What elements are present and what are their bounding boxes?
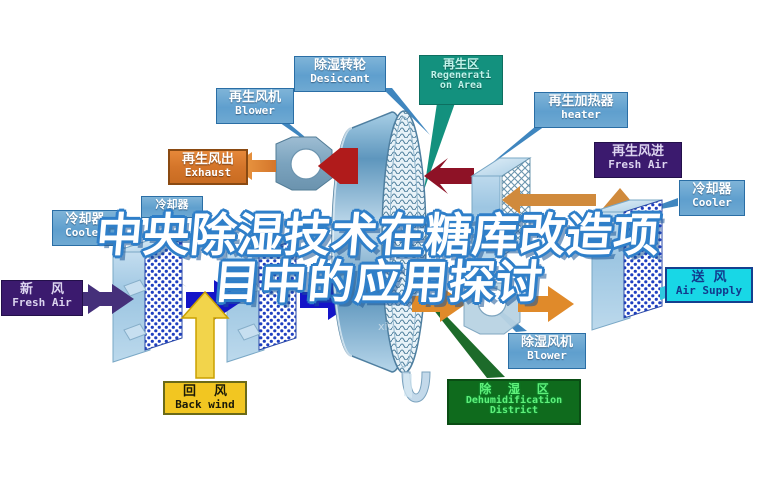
label-regeneration-blower: 再生风机Blower [216, 88, 294, 124]
label-cn: 再生区 [420, 56, 502, 71]
label-exhaust: 再生风出Exhaust [168, 149, 248, 185]
label-desiccant-rotor: 除湿转轮Desiccant [294, 56, 386, 92]
svg-text:xin: xin [378, 320, 395, 333]
arrow-blower-to-cooler [518, 286, 574, 322]
label-cn: 冷却器 [680, 181, 744, 197]
label-en: Desiccant [295, 73, 385, 87]
label-en: Cooler [680, 197, 744, 211]
label-en: Fresh Air [595, 159, 681, 173]
label-cn: 回 风 [165, 383, 245, 399]
label-cn: 冷却器 [53, 211, 117, 227]
label-en: Air Supply [667, 285, 751, 299]
label-regeneration-heater: 再生加热器heater [534, 92, 628, 128]
label-regeneration-fresh-air-in: 再生风进Fresh Air [594, 142, 682, 178]
label-dehumidifying-blower: 除湿风机Blower [508, 333, 586, 369]
label-cn: 再生加热器 [535, 93, 627, 109]
label-cn: 新 风 [2, 281, 82, 297]
label-cooler-middle: 冷却器 [141, 196, 203, 218]
label-cooler-right: 冷却器Cooler [679, 180, 745, 216]
label-en: Dehumidification District [449, 396, 579, 419]
cooler-coil-right [592, 200, 662, 330]
dehumidifying-blower-housing [464, 283, 520, 334]
label-en: Fresh Air [2, 297, 82, 311]
label-fresh-air-in: 新 风Fresh Air [1, 280, 83, 316]
label-en: Blower [509, 350, 585, 364]
label-air-supply: 送 风Air Supply [665, 267, 753, 303]
label-en: Exhaust [170, 167, 246, 181]
regeneration-heater-coil [472, 158, 530, 268]
label-en: Back wind [165, 399, 245, 413]
label-cn: 冷却器 [142, 197, 202, 211]
label-en: heater [535, 109, 627, 123]
label-cn: 再生风进 [595, 143, 681, 159]
label-cn: 除湿风机 [509, 334, 585, 350]
label-cn: 除 湿 区 [449, 381, 579, 396]
label-cn: 再生风机 [217, 89, 293, 105]
label-regeneration-area: 再生区Regenerati on Area [419, 55, 503, 105]
label-dehumidification-district: 除 湿 区Dehumidification District [447, 379, 581, 425]
label-back-wind: 回 风Back wind [163, 381, 247, 415]
label-cn: 再生风出 [170, 151, 246, 167]
diagram-canvas: xin [0, 0, 757, 488]
label-cn: 送 风 [667, 269, 751, 285]
label-en: Regenerati on Area [420, 71, 502, 94]
arrow-freshair-to-heater [502, 186, 596, 214]
condensate-drain-pan [402, 372, 430, 402]
label-cn: 除湿转轮 [295, 57, 385, 73]
label-cooler-left: 冷却器Cooler [52, 210, 118, 246]
label-en: Cooler [53, 227, 117, 241]
label-en: Blower [217, 105, 293, 119]
